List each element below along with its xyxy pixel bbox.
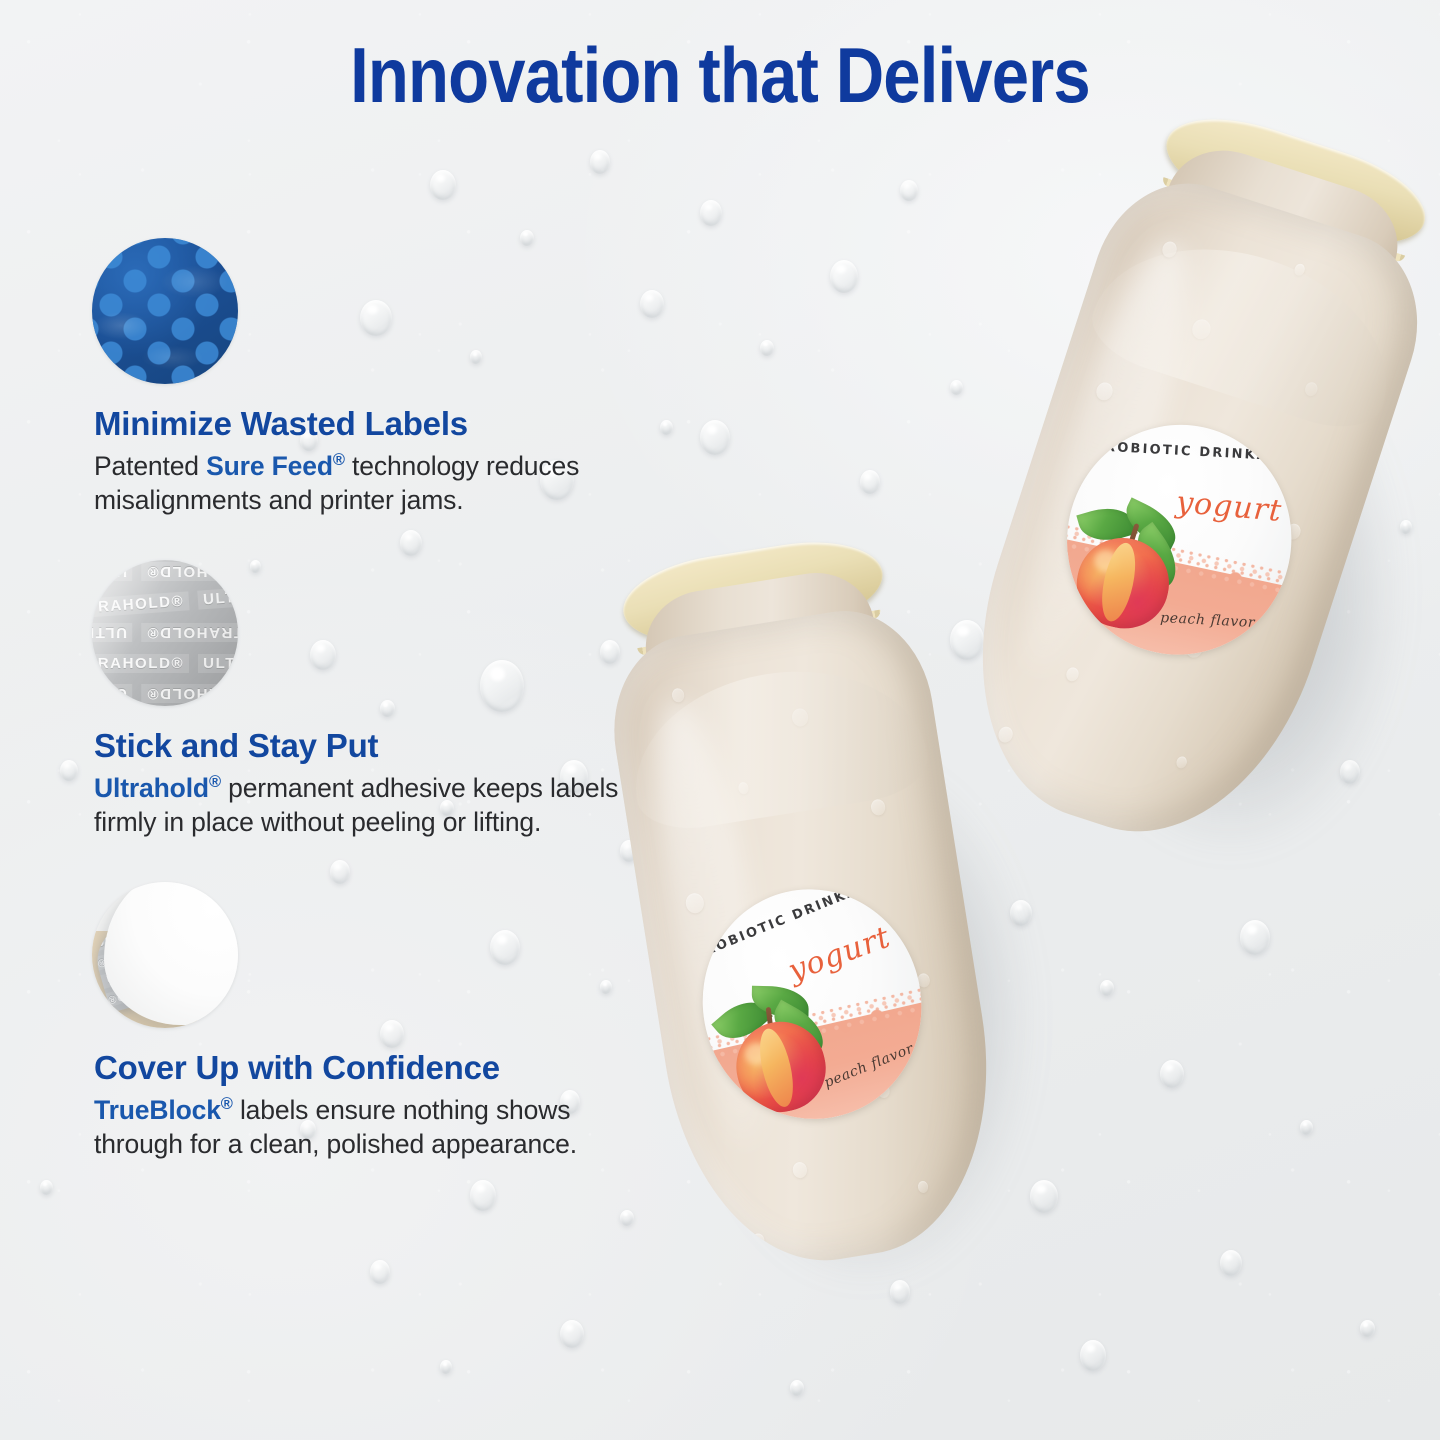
feature-heading: Stick and Stay Put <box>94 728 652 765</box>
feature-list: Minimize Wasted Labels Patented Sure Fee… <box>92 238 652 1161</box>
ultrahold-adhesive-swatch-icon: ULTRAHOLD®ULTRAHOLD®ULTRAHOLD® ULTRAHOLD… <box>92 560 238 706</box>
page-title: Innovation that Delivers <box>101 36 1339 114</box>
feature-stick-and-stay-put: ULTRAHOLD®ULTRAHOLD®ULTRAHOLD® ULTRAHOLD… <box>92 560 652 840</box>
feature-minimize-wasted-labels: Minimize Wasted Labels Patented Sure Fee… <box>92 238 652 518</box>
registered-mark: ® <box>209 773 221 791</box>
feature-body: Patented Sure Feed® technology reduces m… <box>94 449 652 518</box>
blue-dotted-texture-swatch-icon <box>92 238 238 384</box>
feature-heading: Minimize Wasted Labels <box>94 406 652 443</box>
brand-name-ultrahold: Ultrahold <box>94 773 209 803</box>
feature-cover-up-with-confidence: ULTRAHOLD®ULTRAHOLD® ULTRAHOLD®ULTRAHOLD… <box>92 882 652 1162</box>
feature-heading: Cover Up with Confidence <box>94 1050 652 1087</box>
feature-body: TrueBlock® labels ensure nothing shows t… <box>94 1093 652 1162</box>
brand-name-sure-feed: Sure Feed <box>206 451 333 481</box>
body-text-before: Patented <box>94 451 206 481</box>
brand-name-trueblock: TrueBlock <box>94 1095 221 1125</box>
registered-mark: ® <box>221 1095 233 1113</box>
registered-mark: ® <box>333 451 345 469</box>
feature-body: Ultrahold® permanent adhesive keeps labe… <box>94 771 652 840</box>
poster-canvas: Innovation that Delivers Minimize Wasted… <box>0 0 1440 1440</box>
peeling-label-swatch-icon: ULTRAHOLD®ULTRAHOLD® ULTRAHOLD®ULTRAHOLD… <box>92 882 238 1028</box>
